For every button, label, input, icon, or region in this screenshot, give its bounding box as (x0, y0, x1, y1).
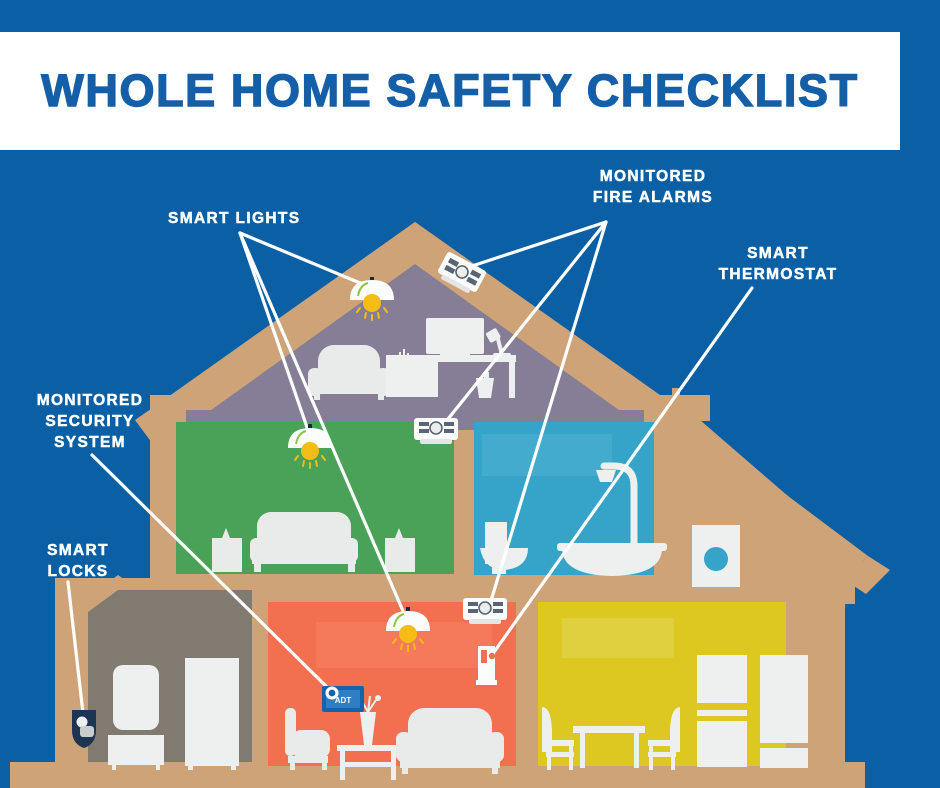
callout-label-smart-lights: SMART LIGHTS (168, 208, 300, 229)
garage-box (108, 735, 164, 765)
room-garage (88, 590, 252, 770)
callout-label-monitored-fire-alarms: MONITORED FIRE ALARMS (558, 166, 748, 208)
callout-label-smart-locks: SMART LOCKS (18, 540, 138, 582)
bed (250, 512, 358, 572)
page-title: WHOLE HOME SAFETY CHECKLIST (0, 32, 900, 150)
smart-thermostat-device[interactable] (476, 646, 497, 685)
adt-logo-text: ADT (335, 696, 352, 705)
attic-armchair (308, 345, 390, 400)
washing-machine (692, 525, 740, 587)
water-heater (113, 665, 159, 730)
sofa (396, 708, 504, 774)
fire-alarm-living[interactable] (463, 598, 507, 624)
security-control-panel[interactable]: ADT (322, 686, 364, 712)
room-kitchen (538, 602, 808, 770)
fire-alarm-bedroom[interactable] (414, 418, 458, 444)
kitchen-wall-panel (562, 618, 674, 658)
callout-label-monitored-security-system: MONITORED SECURITY SYSTEM (20, 390, 160, 453)
garage-cabinet (185, 658, 239, 766)
bathroom-mirror (482, 434, 612, 476)
callout-label-smart-thermostat: SMART THERMOSTAT (698, 243, 858, 285)
smart-lock-device[interactable] (72, 710, 96, 748)
